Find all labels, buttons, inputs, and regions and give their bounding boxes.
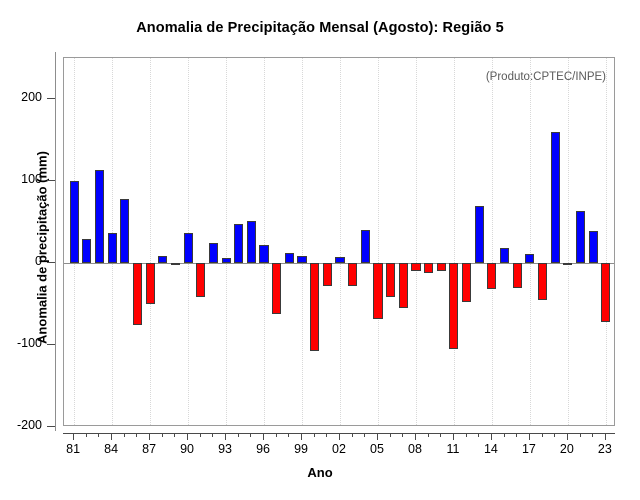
x-tick-2008 <box>415 433 416 440</box>
y-tick-label-100: 100 <box>0 172 42 186</box>
plot-area: (Produto:CPTEC/INPE) <box>63 57 615 426</box>
bar-1996 <box>259 245 268 263</box>
x-tick-2014 <box>491 433 492 440</box>
bar-1994 <box>234 224 243 263</box>
bar-1981 <box>70 181 79 263</box>
bar-2001 <box>323 263 332 286</box>
bar-2000 <box>310 263 319 351</box>
x-tick-1989 <box>174 433 175 437</box>
bar-2021 <box>576 211 585 263</box>
x-tick-1998 <box>288 433 289 437</box>
x-tick-2000 <box>314 433 315 437</box>
y-tick-100 <box>47 180 55 181</box>
x-tick-1995 <box>250 433 251 437</box>
x-tick-2021 <box>580 433 581 437</box>
bar-1982 <box>82 239 91 263</box>
x-tick-1987 <box>149 433 150 440</box>
bar-1990 <box>184 233 193 263</box>
x-tick-1988 <box>162 433 163 437</box>
x-tick-2011 <box>453 433 454 440</box>
x-tick-label-81: 81 <box>53 442 93 456</box>
y-tick-label--100: -100 <box>0 336 42 350</box>
bar-2017 <box>525 254 534 263</box>
bar-2019 <box>551 132 560 263</box>
bar-1984 <box>108 233 117 263</box>
bar-1995 <box>247 221 256 263</box>
x-tick-2003 <box>352 433 353 437</box>
y-tick-0 <box>47 262 55 263</box>
bar-2008 <box>411 263 420 271</box>
bar-1987 <box>146 263 155 304</box>
bar-1997 <box>272 263 281 314</box>
bar-2015 <box>500 248 509 263</box>
y-axis-title: Anomalia de precipitação (mm) <box>35 48 50 448</box>
y-tick-200 <box>47 98 55 99</box>
bar-1993 <box>222 258 231 263</box>
x-axis-title: Ano <box>0 465 640 480</box>
x-tick-label-96: 96 <box>243 442 283 456</box>
bar-1988 <box>158 256 167 263</box>
x-tick-label-87: 87 <box>129 442 169 456</box>
x-tick-1983 <box>98 433 99 437</box>
producer-annotation: (Produto:CPTEC/INPE) <box>486 71 606 83</box>
x-tick-label-84: 84 <box>91 442 131 456</box>
x-tick-2016 <box>516 433 517 437</box>
x-tick-2009 <box>428 433 429 437</box>
x-tick-2006 <box>390 433 391 437</box>
x-tick-1982 <box>86 433 87 437</box>
x-tick-label-99: 99 <box>281 442 321 456</box>
x-tick-1993 <box>225 433 226 440</box>
y-axis-line <box>55 52 56 431</box>
bar-1985 <box>120 199 129 263</box>
x-tick-2017 <box>529 433 530 440</box>
y-tick-label-0: 0 <box>0 254 42 268</box>
x-tick-1990 <box>187 433 188 440</box>
x-tick-1994 <box>238 433 239 437</box>
bar-1989 <box>171 263 180 265</box>
x-tick-label-90: 90 <box>167 442 207 456</box>
bar-2004 <box>361 230 370 263</box>
bar-1986 <box>133 263 142 325</box>
chart-title: Anomalia de Precipitação Mensal (Agosto)… <box>0 20 640 36</box>
x-tick-label-08: 08 <box>395 442 435 456</box>
bar-2003 <box>348 263 357 286</box>
bar-2014 <box>487 263 496 289</box>
x-tick-2001 <box>326 433 327 437</box>
bar-2006 <box>386 263 395 297</box>
x-tick-2002 <box>339 433 340 440</box>
x-tick-label-02: 02 <box>319 442 359 456</box>
bar-1999 <box>297 256 306 263</box>
y-tick--200 <box>47 426 55 427</box>
x-tick-2019 <box>554 433 555 437</box>
bar-2018 <box>538 263 547 300</box>
x-tick-2013 <box>478 433 479 437</box>
x-tick-2004 <box>364 433 365 437</box>
bar-2011 <box>449 263 458 349</box>
bar-1998 <box>285 253 294 263</box>
x-tick-2015 <box>504 433 505 437</box>
y-tick-label--200: -200 <box>0 418 42 432</box>
bar-1992 <box>209 243 218 264</box>
x-tick-2007 <box>402 433 403 437</box>
x-tick-2023 <box>605 433 606 440</box>
x-tick-label-05: 05 <box>357 442 397 456</box>
x-tick-1997 <box>276 433 277 437</box>
x-tick-2010 <box>440 433 441 437</box>
x-tick-label-23: 23 <box>585 442 625 456</box>
bar-2013 <box>475 206 484 263</box>
x-tick-label-11: 11 <box>433 442 473 456</box>
bar-2002 <box>335 257 344 263</box>
y-tick--100 <box>47 344 55 345</box>
x-tick-2022 <box>592 433 593 437</box>
x-tick-2005 <box>377 433 378 440</box>
bar-2020 <box>563 263 572 265</box>
x-tick-1981 <box>73 433 74 440</box>
x-tick-2020 <box>567 433 568 440</box>
bar-2012 <box>462 263 471 302</box>
bar-2010 <box>437 263 446 271</box>
precipitation-anomaly-chart: Anomalia de Precipitação Mensal (Agosto)… <box>0 0 640 500</box>
bar-2007 <box>399 263 408 308</box>
x-tick-1992 <box>212 433 213 437</box>
x-tick-1985 <box>124 433 125 437</box>
x-tick-label-17: 17 <box>509 442 549 456</box>
bar-2005 <box>373 263 382 319</box>
bar-2022 <box>589 231 598 263</box>
x-tick-1999 <box>301 433 302 440</box>
x-tick-2012 <box>466 433 467 437</box>
bar-1983 <box>95 170 104 263</box>
x-tick-1986 <box>136 433 137 437</box>
x-tick-1991 <box>200 433 201 437</box>
y-tick-label-200: 200 <box>0 90 42 104</box>
x-tick-label-14: 14 <box>471 442 511 456</box>
bar-2023 <box>601 263 610 322</box>
x-tick-1996 <box>263 433 264 440</box>
x-tick-label-20: 20 <box>547 442 587 456</box>
bar-1991 <box>196 263 205 297</box>
bars-layer <box>64 58 614 425</box>
bar-2009 <box>424 263 433 273</box>
x-tick-1984 <box>111 433 112 440</box>
x-tick-2018 <box>542 433 543 437</box>
x-tick-label-93: 93 <box>205 442 245 456</box>
bar-2016 <box>513 263 522 288</box>
